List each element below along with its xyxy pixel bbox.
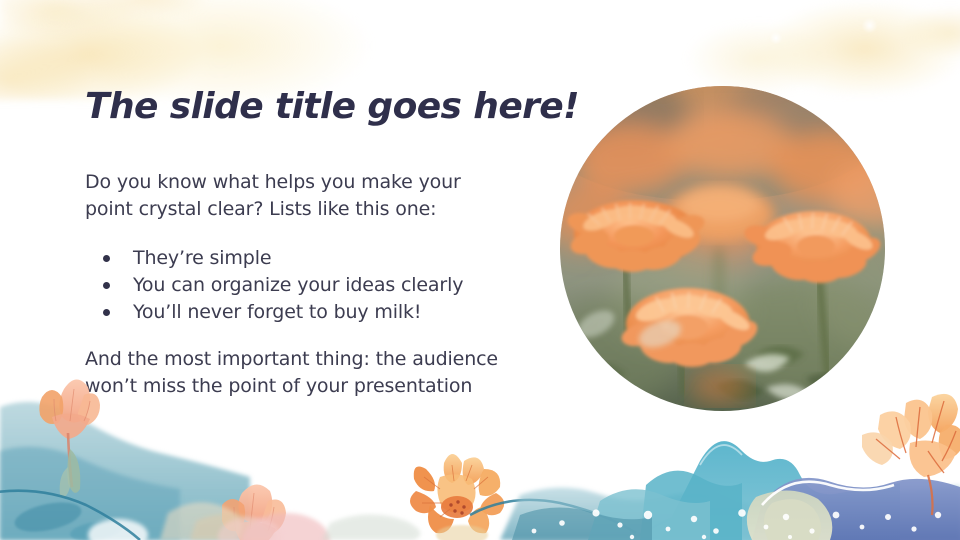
bullet-list: They’re simple You can organize your ide… (85, 223, 525, 326)
pastel-watercolor-blobs (88, 502, 420, 540)
watercolor-top-left-wash-secondary (0, 0, 300, 80)
white-speckles (532, 509, 942, 539)
list-item-label: They’re simple (133, 247, 271, 269)
watercolor-peach-flower-2 (222, 484, 286, 540)
bullet-dot-icon (103, 255, 110, 262)
watercolor-top-right-speckles (740, 8, 920, 58)
watercolor-top-right-wash (660, 0, 960, 95)
intro-paragraph: Do you know what helps you make your poi… (85, 126, 485, 223)
bottom-left-teal-wash (0, 402, 250, 540)
page-title: The slide title goes here! (85, 88, 525, 126)
bullet-dot-icon (103, 282, 110, 289)
bullet-dot-icon (103, 309, 110, 316)
slide-text-column: The slide title goes here! Do you know w… (85, 88, 525, 400)
watercolor-orange-flower-right (862, 394, 960, 515)
list-item-label: You’ll never forget to buy milk! (133, 301, 421, 323)
list-item: They’re simple (85, 245, 525, 272)
slide-image-circle (560, 86, 885, 411)
orange-zinnia-flowers-photo (560, 86, 885, 411)
presentation-slide: The slide title goes here! Do you know w… (0, 0, 960, 540)
watercolor-orange-daisy (410, 454, 504, 540)
list-item: You can organize your ideas clearly (85, 272, 525, 299)
list-item-label: You can organize your ideas clearly (133, 274, 463, 296)
watercolor-top-left-wash (0, 0, 380, 100)
teal-curve-lines (0, 491, 740, 540)
list-item: You’ll never forget to buy milk! (85, 299, 525, 326)
bottom-right-watercolor-hills (500, 441, 960, 540)
closing-paragraph: And the most important thing: the audien… (85, 326, 515, 400)
